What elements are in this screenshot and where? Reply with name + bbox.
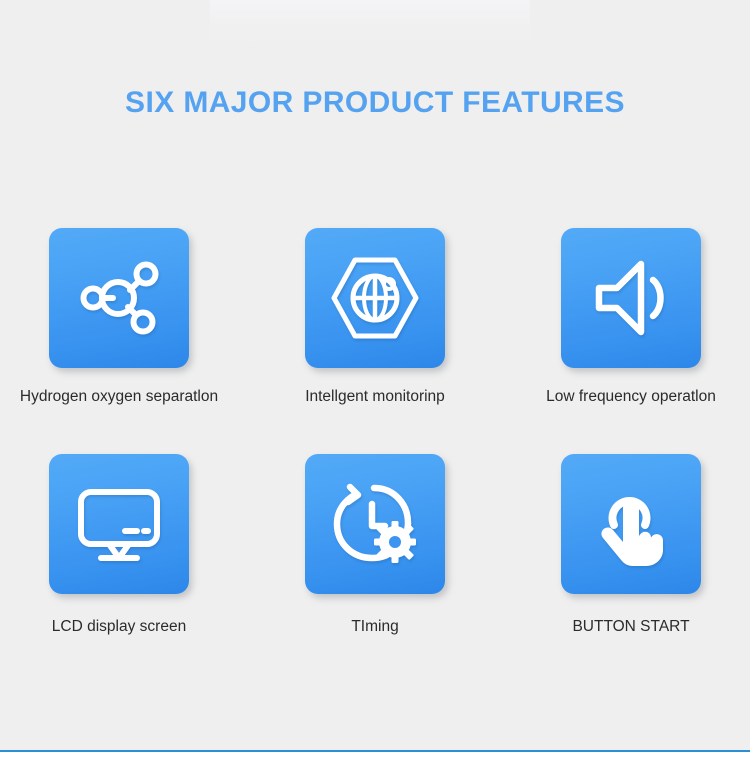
feature-label: Low frequency operatlon bbox=[526, 386, 736, 408]
feature-card-timing[interactable]: TIming bbox=[285, 454, 465, 638]
molecule-icon bbox=[73, 252, 165, 344]
feature-icon-tile bbox=[561, 454, 701, 594]
feature-label: BUTTON START bbox=[526, 616, 736, 638]
feature-showcase-page: SIX MAJOR PRODUCT FEATURES bbox=[0, 0, 750, 762]
background-sheen bbox=[210, 0, 530, 48]
page-title: SIX MAJOR PRODUCT FEATURES bbox=[0, 86, 750, 120]
bottom-white-strip bbox=[0, 752, 750, 762]
feature-icon-tile bbox=[561, 228, 701, 368]
hexagon-globe-monitor-icon bbox=[327, 252, 423, 344]
features-row-bottom: LCD display screen bbox=[0, 454, 750, 638]
feature-card-low-frequency-operation[interactable]: Low frequency operatlon bbox=[541, 228, 721, 408]
feature-icon-tile bbox=[305, 228, 445, 368]
feature-card-hydrogen-oxygen-separation[interactable]: Hydrogen oxygen separatlon bbox=[29, 228, 209, 408]
features-grid: Hydrogen oxygen separatlon bbox=[0, 228, 750, 639]
feature-label: Hydrogen oxygen separatlon bbox=[14, 386, 224, 408]
feature-icon-tile bbox=[49, 454, 189, 594]
clock-gear-timer-icon bbox=[328, 478, 422, 570]
features-row-top: Hydrogen oxygen separatlon bbox=[0, 228, 750, 408]
feature-label: Intellgent monitorinp bbox=[270, 386, 480, 408]
feature-card-lcd-display-screen[interactable]: LCD display screen bbox=[29, 454, 209, 638]
feature-card-intelligent-monitoring[interactable]: Intellgent monitorinp bbox=[285, 228, 465, 408]
feature-label: LCD display screen bbox=[14, 616, 224, 638]
speaker-sound-icon bbox=[585, 252, 677, 344]
monitor-screen-icon bbox=[71, 478, 167, 570]
feature-icon-tile bbox=[49, 228, 189, 368]
feature-label: TIming bbox=[270, 616, 480, 638]
touch-hand-button-icon bbox=[585, 478, 677, 570]
feature-card-button-start[interactable]: BUTTON START bbox=[541, 454, 721, 638]
feature-icon-tile bbox=[305, 454, 445, 594]
